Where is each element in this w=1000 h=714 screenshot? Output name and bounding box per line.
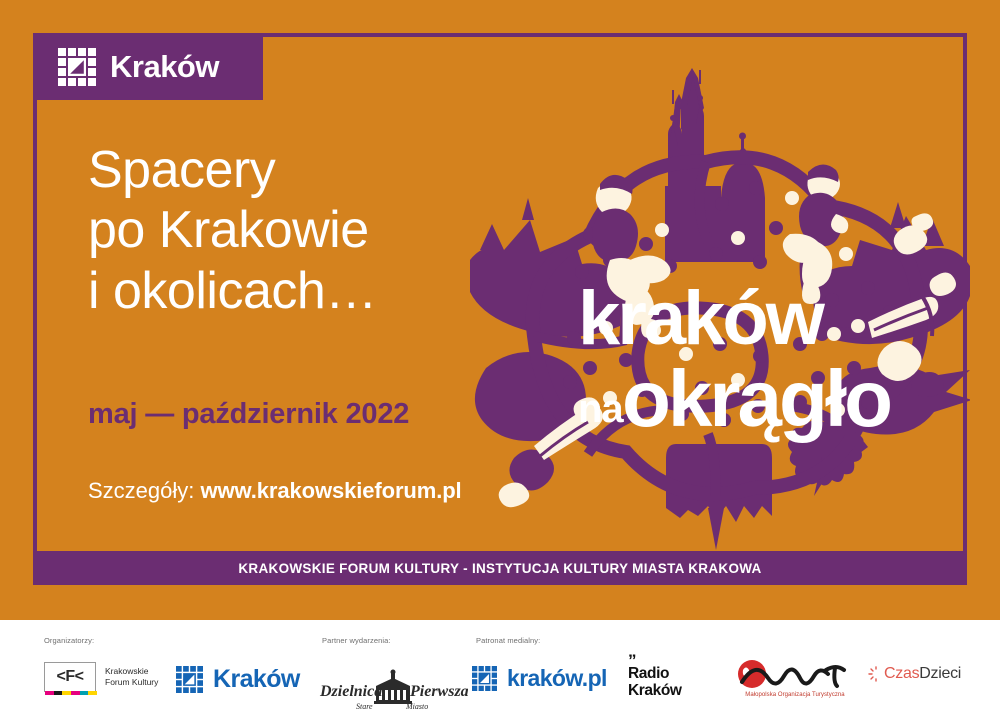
event-date-range: maj — październik 2022 <box>88 398 409 431</box>
footer-label-organizers: Organizatorzy: <box>44 636 94 645</box>
kfk-logo-mark-text: <F< <box>57 669 84 685</box>
headline-line-2: po Krakowie <box>88 200 508 260</box>
czasdzieci-wordmark: CzasDzieci <box>884 666 961 682</box>
krakow-logo[interactable]: Kraków <box>176 666 300 693</box>
headline-line-3: i okolicach… <box>88 261 508 321</box>
dzielnica-sub-2: Miasto <box>405 702 428 711</box>
footer-label-media: Patronat medialny: <box>476 636 540 645</box>
krakow-pl-logo[interactable]: kraków.pl <box>472 666 607 691</box>
krakow-logo-wordmark: Kraków <box>110 51 219 82</box>
kfk-logo-name: Krakowskie Forum Kultury <box>105 666 158 688</box>
krakow-pl-wordmark: kraków.pl <box>507 667 607 690</box>
krakow-pl-logo-icon <box>472 666 497 691</box>
dzielnica-script-2: Pierwsza <box>409 683 468 700</box>
wordmark-line-2: okrągło <box>622 354 890 443</box>
czasdzieci-part2: zas <box>895 665 919 682</box>
czasdzieci-part3: Dzieci <box>919 665 961 682</box>
footer-label-partner: Partner wydarzenia: <box>322 636 391 645</box>
czasdzieci-logo[interactable]: CzasDzieci <box>868 666 961 682</box>
kfk-logo-color-stripes <box>45 691 97 695</box>
kfk-logo-name-line1: Krakowskie <box>105 666 158 677</box>
institution-bar: KRAKOWSKIE FORUM KULTURY - INSTYTUCJA KU… <box>37 551 963 585</box>
krakow-logo-wordmark-footer: Kraków <box>213 667 300 692</box>
czasdzieci-part1: C <box>884 665 895 682</box>
footer-partners: Organizatorzy: <F< Krakowskie Forum Kult… <box>0 620 1000 714</box>
radio-krakow-line1: Radio <box>628 666 682 683</box>
krakow-city-grid-logo-icon <box>58 48 96 86</box>
czasdzieci-sun-icon <box>868 666 884 682</box>
krakow-logo-icon <box>176 666 203 693</box>
mot-logo[interactable]: Małopolska Organizacja Turystyczna <box>730 658 860 698</box>
obwarzanek-illustration: kraków na okrągło <box>470 38 970 550</box>
kfk-logo[interactable]: <F< Krakowskie Forum Kultury <box>44 662 158 692</box>
krakow-logo-badge: Kraków <box>33 33 263 100</box>
headline-line-1: Spacery <box>88 140 508 200</box>
headline-block: Spacery po Krakowie i okolicach… <box>88 140 508 321</box>
dzielnica-sub-1: Stare <box>356 702 373 711</box>
kfk-logo-mark: <F< <box>44 662 96 692</box>
details-url[interactable]: www.krakowskieforum.pl <box>201 478 462 503</box>
mot-logo-caption: Małopolska Organizacja Turystyczna <box>730 692 860 698</box>
details-label: Szczegóły: <box>88 478 194 503</box>
kfk-logo-name-line2: Forum Kultury <box>105 677 158 688</box>
institution-bar-text: KRAKOWSKIE FORUM KULTURY - INSTYTUCJA KU… <box>238 561 761 576</box>
wordmark-small: na <box>578 387 624 431</box>
dzielnica-pierwsza-logo[interactable]: Dzielnica Pierwsza Stare Miasto <box>318 668 468 712</box>
radio-krakow-line2: Kraków <box>628 683 682 700</box>
wordmark-line-1: kraków <box>578 276 826 361</box>
poster-canvas: Kraków Spacery po Krakowie i okolicach… … <box>0 0 1000 620</box>
dzielnica-script-1: Dzielnica <box>319 683 382 700</box>
details-line: Szczegóły: www.krakowskieforum.pl <box>88 478 462 504</box>
radio-krakow-logo[interactable]: ” Radio Kraków <box>628 656 682 700</box>
